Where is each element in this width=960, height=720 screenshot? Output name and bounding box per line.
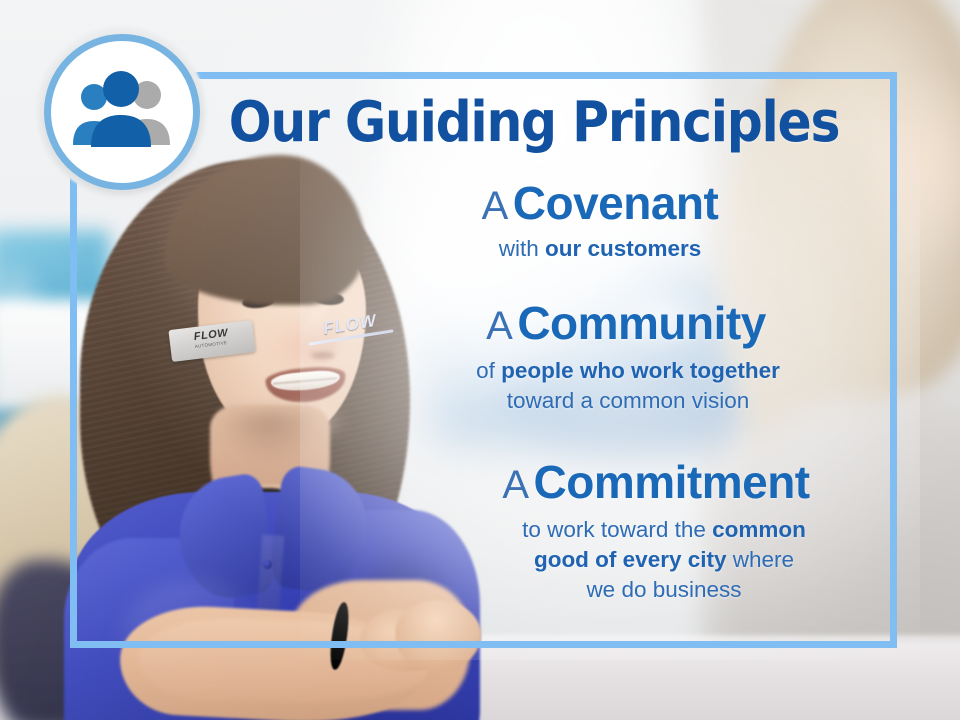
spacer-covenant-community — [300, 264, 900, 300]
principle-covenant-word: Covenant — [513, 177, 719, 229]
community-sub-line2: toward a common vision — [507, 388, 750, 413]
covenant-sub-plain: with — [499, 236, 545, 261]
principle-commitment-word: Commitment — [534, 456, 810, 508]
principle-community: A Community of people who work togethert… — [300, 300, 900, 416]
commitment-sub-bold2: good of every city — [534, 547, 727, 572]
commitment-sub-plain2: where — [727, 547, 795, 572]
commitment-sub-bold1: common — [712, 517, 806, 542]
principle-commitment-heading: A Commitment — [300, 459, 900, 507]
principle-commitment: A Commitment to work toward the commongo… — [300, 459, 900, 605]
page-title: Our Guiding Principles — [48, 95, 912, 151]
community-sub-plain: of — [476, 358, 501, 383]
principle-covenant-heading: A Covenant — [300, 180, 900, 228]
principle-covenant-subtitle: with our customers — [300, 234, 900, 264]
principle-community-heading: A Community — [300, 300, 900, 348]
spacer-community-commitment — [300, 415, 900, 459]
covenant-sub-bold: our customers — [545, 236, 701, 261]
principle-covenant: A Covenant with our customers — [300, 180, 900, 264]
polo-button-top — [263, 560, 272, 569]
poster-canvas: FLOW AUTOMOTIVE FLOW — [0, 0, 960, 720]
principle-commitment-subtitle: to work toward the commongood of every c… — [300, 515, 900, 605]
principle-community-word: Community — [517, 297, 766, 349]
principle-covenant-article: A — [482, 184, 509, 228]
community-sub-bold: people who work together — [501, 358, 780, 383]
principle-community-subtitle: of people who work togethertoward a comm… — [300, 356, 900, 416]
commitment-sub-line3: we do business — [586, 577, 741, 602]
principle-commitment-article: A — [502, 463, 529, 507]
principles-list: A Covenant with our customers A Communit… — [300, 180, 900, 605]
commitment-sub-plain1: to work toward the — [522, 517, 712, 542]
principle-community-article: A — [486, 304, 513, 348]
